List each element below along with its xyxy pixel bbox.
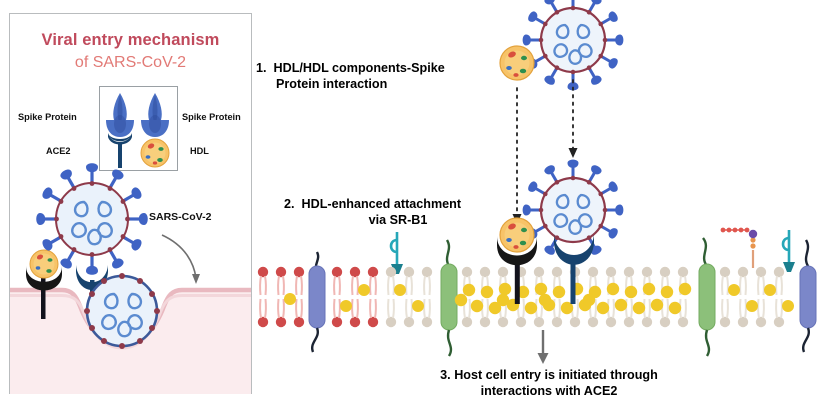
dotted-arrow-hdl [513, 88, 522, 224]
right-scene [255, 0, 831, 408]
panel-subtitle: of SARS-CoV-2 [10, 54, 251, 72]
transmembrane-protein-blue-2 [800, 240, 816, 352]
label-spike-protein-left: Spike Protein [18, 112, 77, 122]
left-panel: Viral entry mechanism of SARS-CoV-2 [9, 13, 252, 394]
panel-title: Viral entry mechanism [10, 31, 251, 50]
transmembrane-protein-green-2 [699, 238, 715, 356]
label-spike-protein-right: Spike Protein [182, 112, 241, 122]
left-panel-scene [10, 172, 251, 394]
glycoprotein-receptor [721, 228, 758, 268]
inset-legend-box [99, 86, 178, 171]
inset-spike-ace2 [106, 93, 134, 168]
figure-canvas: Viral entry mechanism of SARS-CoV-2 [0, 0, 831, 408]
virion-attaching [523, 160, 624, 257]
virion-top [523, 0, 624, 90]
label-ace2: ACE2 [46, 146, 71, 156]
teal-hook-receptor-2 [783, 230, 795, 272]
dotted-arrow-virion [569, 80, 578, 158]
step-3-arrow [538, 330, 549, 364]
inset-graphic [100, 87, 177, 170]
transmembrane-protein-green-1 [441, 240, 457, 356]
label-hdl: HDL [190, 146, 209, 156]
inset-spike-hdl [141, 93, 169, 167]
hdl-particle-top [500, 46, 534, 80]
endocytosis-arrow-left [162, 235, 200, 284]
transmembrane-protein-blue-1 [309, 252, 325, 352]
